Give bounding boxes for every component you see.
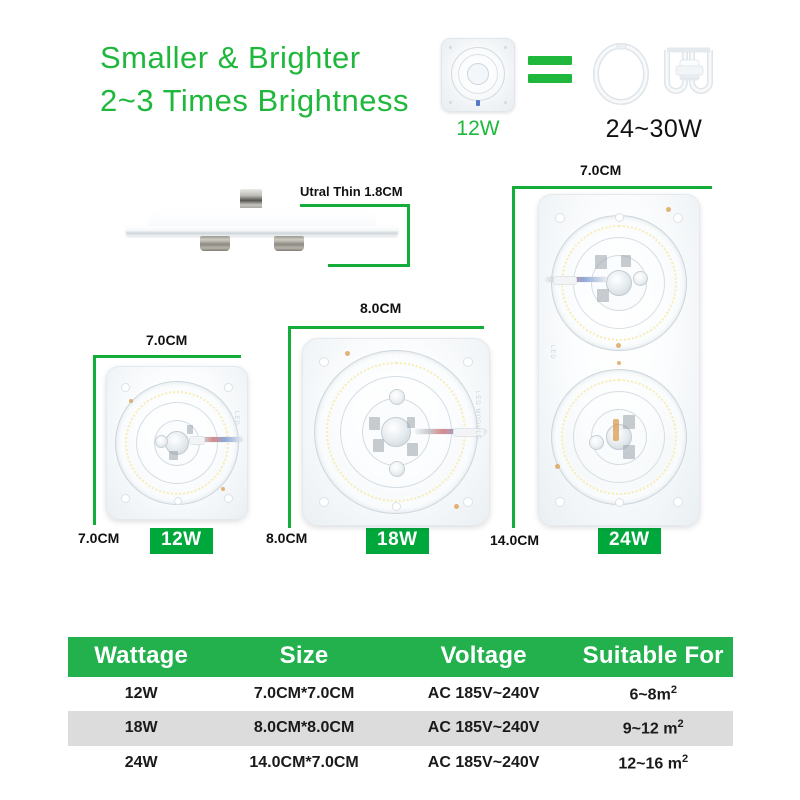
wire-sleeve-icon bbox=[453, 428, 485, 437]
mounting-hole-icon bbox=[224, 383, 233, 392]
screw-hole-icon bbox=[504, 101, 507, 104]
mounting-hole-icon bbox=[555, 497, 565, 507]
magnet-icon bbox=[274, 236, 304, 251]
mounting-hole-icon bbox=[121, 383, 130, 392]
module-base-plate-icon bbox=[126, 226, 398, 236]
led-hub-icon bbox=[606, 270, 632, 296]
dimension-line-width-18w bbox=[288, 326, 484, 329]
dimension-line-height-12w bbox=[93, 355, 96, 525]
mounting-hole-icon bbox=[463, 497, 473, 507]
driver-chip-icon bbox=[595, 255, 607, 269]
table-header-row: Wattage Size Voltage Suitable For bbox=[68, 637, 733, 677]
led-hub-icon bbox=[467, 63, 489, 85]
thin-profile-figure: Utral Thin 1.8CM bbox=[118, 186, 418, 291]
driver-chip-icon bbox=[169, 451, 178, 460]
driver-chip-icon bbox=[373, 439, 384, 452]
cell-size: 14.0CM*7.0CM bbox=[214, 746, 394, 780]
cell-suitable-for: 9~12 m2 bbox=[573, 711, 733, 745]
dimension-line-width-24w bbox=[512, 186, 712, 189]
dimension-line-vertical bbox=[407, 204, 410, 267]
mounting-hole-icon bbox=[319, 357, 329, 367]
dimension-label-height-12w: 7.0CM bbox=[78, 530, 119, 546]
equals-sign-icon bbox=[528, 56, 572, 83]
driver-chip-icon bbox=[407, 443, 418, 456]
led-optic-assembly-24w-bottom bbox=[539, 357, 699, 517]
mounting-hole-icon bbox=[673, 497, 683, 507]
module-figure-24w: 7.0CM 14.0CM 24W bbox=[494, 162, 720, 564]
header-new-lamp-figure: 12W bbox=[434, 38, 522, 141]
cell-suitable-unit: 2 bbox=[671, 684, 677, 696]
screw-hole-icon bbox=[449, 101, 452, 104]
cell-wattage: 24W bbox=[68, 746, 214, 780]
cell-size: 7.0CM*7.0CM bbox=[214, 677, 394, 711]
table-row: 12W 7.0CM*7.0CM AC 185V~240V 6~8m2 bbox=[68, 677, 733, 711]
solder-point-icon bbox=[616, 343, 621, 348]
specification-table: Wattage Size Voltage Suitable For 12W 7.… bbox=[68, 637, 733, 780]
dimension-label-height-24w: 14.0CM bbox=[490, 532, 539, 548]
table-header-suitable-for: Suitable For bbox=[573, 637, 733, 677]
connector-icon bbox=[476, 100, 480, 106]
cell-voltage: AC 185V~240V bbox=[394, 711, 574, 745]
wire-sleeve-icon bbox=[189, 436, 205, 445]
cell-suitable-for: 12~16 m2 bbox=[573, 746, 733, 780]
wire-sleeve-icon bbox=[553, 276, 577, 285]
table-header-wattage: Wattage bbox=[68, 637, 214, 677]
screw-hole-icon bbox=[504, 46, 507, 49]
header-new-lamp-label: 12W bbox=[434, 117, 522, 141]
header-old-lamp-label: 24~30W bbox=[588, 115, 720, 144]
driver-chip-icon bbox=[369, 417, 380, 430]
solder-point-icon bbox=[617, 361, 621, 365]
module-figure-18w: 8.0CM 8.0CM 18W LED MODULE bbox=[272, 300, 508, 564]
wattage-badge-12w: 12W bbox=[150, 528, 213, 554]
table-row: 18W 8.0CM*8.0CM AC 185V~240V 9~12 m2 bbox=[68, 711, 733, 745]
driver-chip-icon bbox=[187, 425, 193, 434]
driver-chip-icon bbox=[623, 445, 635, 459]
cell-wattage: 18W bbox=[68, 711, 214, 745]
dimension-line-height-24w bbox=[512, 186, 515, 528]
cell-suitable-unit: 2 bbox=[682, 753, 688, 765]
panel-marking: LED MODULE bbox=[474, 391, 480, 440]
magnet-icon bbox=[200, 236, 230, 251]
led-optic-assembly-24w-top bbox=[539, 203, 699, 363]
solder-point-icon bbox=[221, 487, 225, 491]
table-header-size: Size bbox=[214, 637, 394, 677]
led-optic-assembly-18w bbox=[303, 339, 489, 525]
mounting-hole-icon bbox=[463, 357, 473, 367]
headline-line-2: 2~3 Times Brightness bbox=[100, 79, 440, 122]
dimension-label-height-18w: 8.0CM bbox=[266, 530, 307, 546]
thin-profile-label: Utral Thin 1.8CM bbox=[300, 184, 403, 199]
dimension-line-top bbox=[300, 204, 410, 207]
mounting-hole-icon bbox=[555, 213, 565, 223]
table-header-voltage: Voltage bbox=[394, 637, 574, 677]
mounting-hole-icon bbox=[224, 494, 233, 503]
led-module-thumbnail-icon bbox=[441, 38, 515, 112]
screw-icon bbox=[389, 461, 405, 477]
screw-icon bbox=[589, 435, 604, 450]
solder-point-icon bbox=[555, 464, 560, 469]
screw-hole-icon bbox=[449, 46, 452, 49]
driver-chip-icon bbox=[407, 417, 415, 428]
cell-size: 8.0CM*8.0CM bbox=[214, 711, 394, 745]
cell-suitable-value: 6~8m bbox=[629, 686, 670, 703]
dimension-line-width-12w bbox=[93, 355, 241, 358]
solder-point-icon bbox=[345, 351, 350, 356]
mounting-hole-icon bbox=[319, 497, 329, 507]
module-figure-12w: 7.0CM 7.0CM 12W LED bbox=[78, 332, 288, 564]
driver-chip-icon bbox=[613, 419, 619, 441]
fluorescent-lamps-icon bbox=[588, 36, 720, 111]
cell-voltage: AC 185V~240V bbox=[394, 746, 574, 780]
cell-suitable-value: 9~12 m bbox=[623, 721, 678, 738]
equals-bar-bottom bbox=[528, 74, 572, 83]
screw-icon bbox=[633, 271, 648, 286]
panel-marking: LED bbox=[549, 345, 555, 360]
driver-chip-icon bbox=[623, 415, 635, 429]
mounting-hole-icon bbox=[174, 497, 182, 505]
solder-point-icon bbox=[129, 399, 133, 403]
header-old-lamp-figure: 24~30W bbox=[588, 36, 720, 144]
mounting-hole-icon bbox=[615, 498, 624, 507]
wattage-badge-18w: 18W bbox=[366, 528, 429, 554]
dimension-line-bottom bbox=[328, 264, 410, 267]
dimension-line-height-18w bbox=[288, 326, 291, 528]
driver-chip-icon bbox=[597, 289, 609, 302]
cell-suitable-for: 6~8m2 bbox=[573, 677, 733, 711]
headline-block: Smaller & Brighter 2~3 Times Brightness bbox=[100, 36, 440, 122]
cell-suitable-unit: 2 bbox=[677, 718, 683, 730]
mounting-hole-icon bbox=[121, 494, 130, 503]
wattage-badge-24w: 24W bbox=[598, 528, 661, 554]
dimension-label-width-24w: 7.0CM bbox=[580, 162, 621, 178]
table-row: 24W 14.0CM*7.0CM AC 185V~240V 12~16 m2 bbox=[68, 746, 733, 780]
solder-point-icon bbox=[666, 207, 671, 212]
solder-point-icon bbox=[454, 504, 459, 509]
cell-voltage: AC 185V~240V bbox=[394, 677, 574, 711]
mounting-hole-icon bbox=[392, 502, 401, 511]
cell-suitable-value: 12~16 m bbox=[618, 755, 682, 772]
driver-chip-icon bbox=[621, 255, 631, 267]
led-panel-24w: LED bbox=[538, 194, 700, 526]
mounting-hole-icon bbox=[615, 213, 624, 222]
led-panel-18w: LED MODULE bbox=[302, 338, 490, 526]
equals-bar-top bbox=[528, 56, 572, 65]
mounting-hole-icon bbox=[673, 213, 683, 223]
headline-line-1: Smaller & Brighter bbox=[100, 36, 440, 79]
led-panel-12w: LED bbox=[106, 366, 248, 520]
dimension-label-width-12w: 7.0CM bbox=[146, 332, 187, 348]
panel-marking: LED bbox=[233, 411, 239, 426]
screw-icon bbox=[155, 435, 168, 448]
screw-icon bbox=[389, 389, 405, 405]
cell-wattage: 12W bbox=[68, 677, 214, 711]
dimension-label-width-18w: 8.0CM bbox=[360, 300, 401, 316]
old-lamp-icons bbox=[588, 36, 720, 111]
